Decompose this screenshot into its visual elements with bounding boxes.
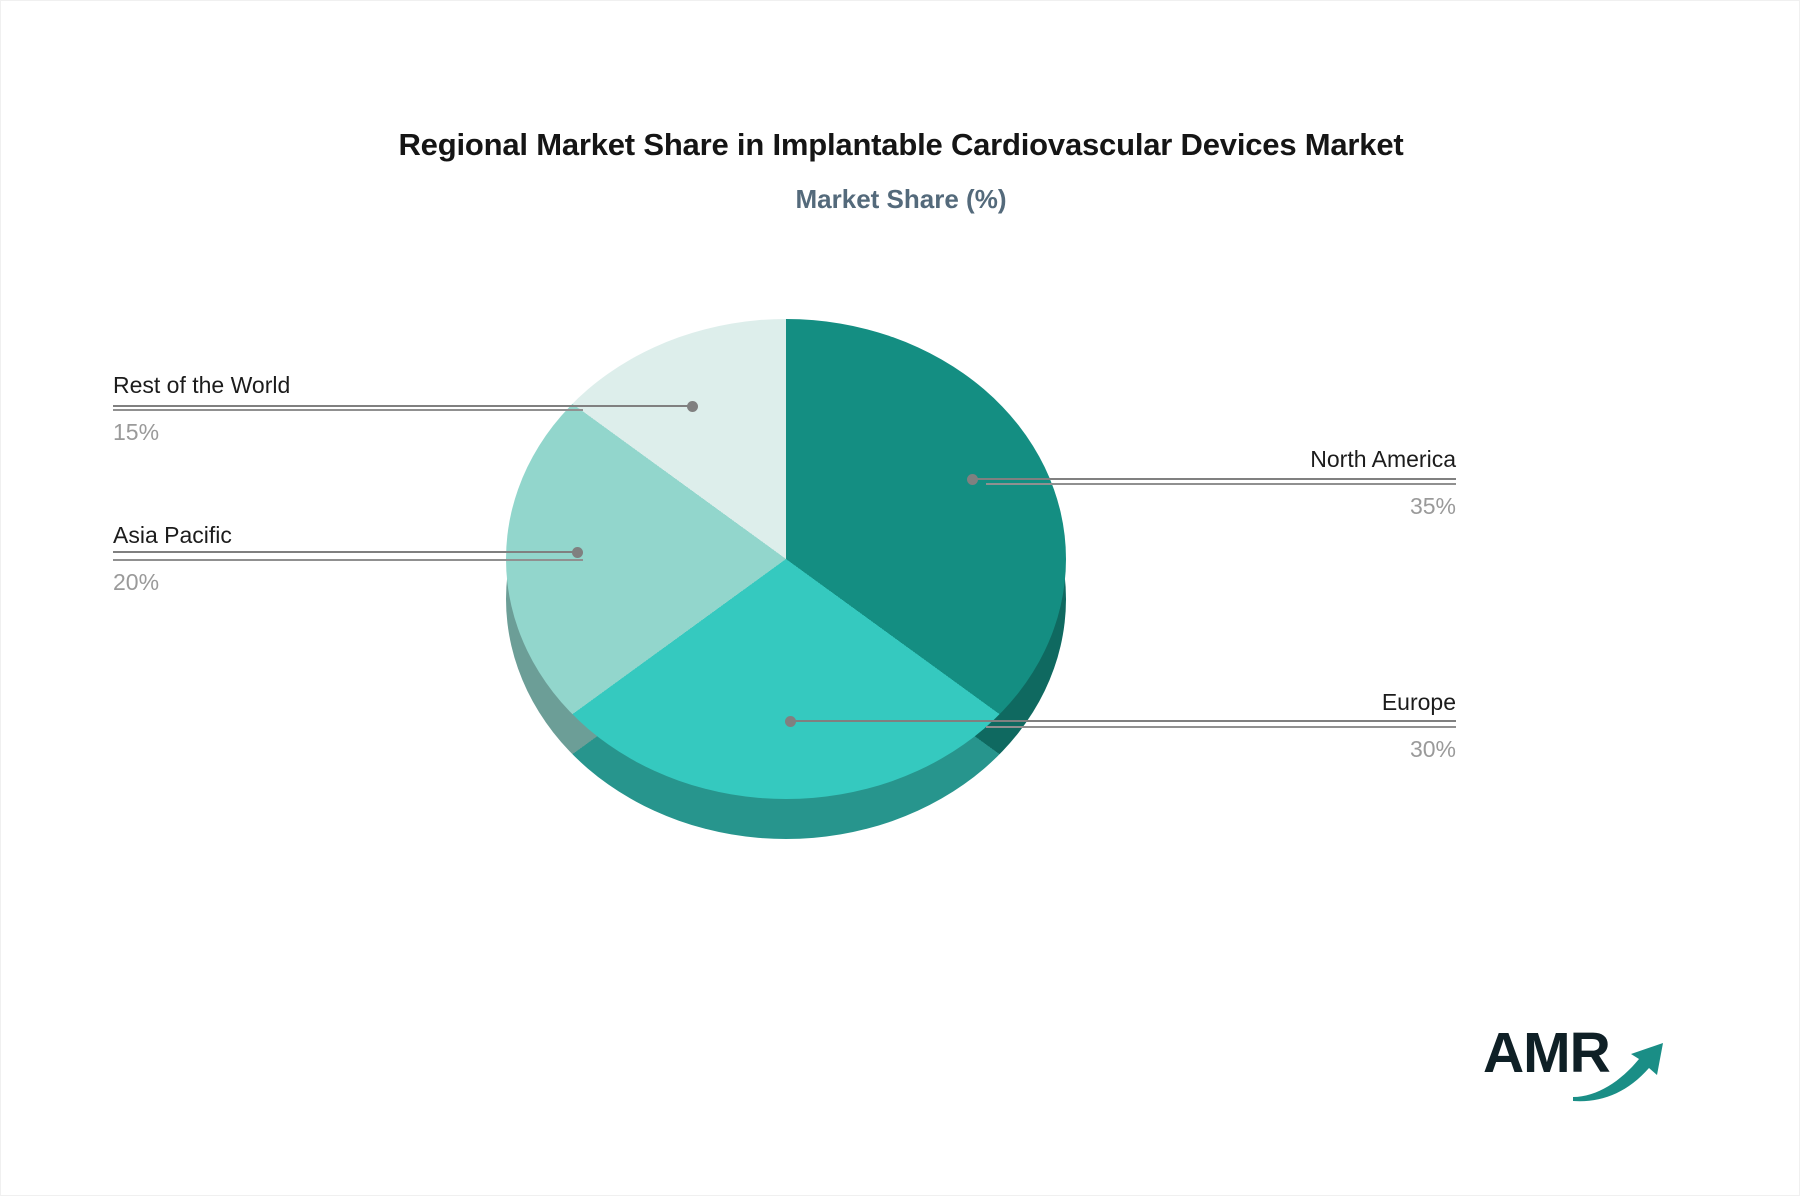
page-title: Regional Market Share in Implantable Car… [1, 126, 1800, 163]
slice-label-europe: Europe [986, 688, 1456, 717]
callout-rest-of-the-world[interactable]: Rest of the World 15% [113, 371, 583, 447]
slice-value-asia-pacific: 20% [113, 568, 583, 597]
slice-value-north-america: 35% [986, 492, 1456, 521]
callout-rule [113, 559, 583, 561]
leader-dot-north-america [967, 474, 978, 485]
callout-rule [113, 409, 583, 411]
leader-dot-europe [785, 716, 796, 727]
callout-rule [986, 483, 1456, 485]
callout-europe[interactable]: Europe 30% [986, 688, 1456, 764]
chart-header: Regional Market Share in Implantable Car… [1, 126, 1800, 215]
leader-dot-rest-of-the-world [687, 401, 698, 412]
slice-label-north-america: North America [986, 445, 1456, 474]
slice-value-rest-of-the-world: 15% [113, 418, 583, 447]
amr-logo[interactable]: AMR [1483, 1019, 1663, 1105]
callout-north-america[interactable]: North America 35% [986, 445, 1456, 521]
slice-value-europe: 30% [986, 735, 1456, 764]
pie-slices[interactable] [506, 319, 1066, 799]
callout-rule [986, 726, 1456, 728]
callout-asia-pacific[interactable]: Asia Pacific 20% [113, 521, 583, 597]
chart-subtitle: Market Share (%) [1, 184, 1800, 215]
chart-canvas: Regional Market Share in Implantable Car… [0, 0, 1800, 1196]
slice-label-rest-of-the-world: Rest of the World [113, 371, 583, 400]
growth-arrow-icon [1571, 1037, 1667, 1103]
slice-label-asia-pacific: Asia Pacific [113, 521, 583, 550]
